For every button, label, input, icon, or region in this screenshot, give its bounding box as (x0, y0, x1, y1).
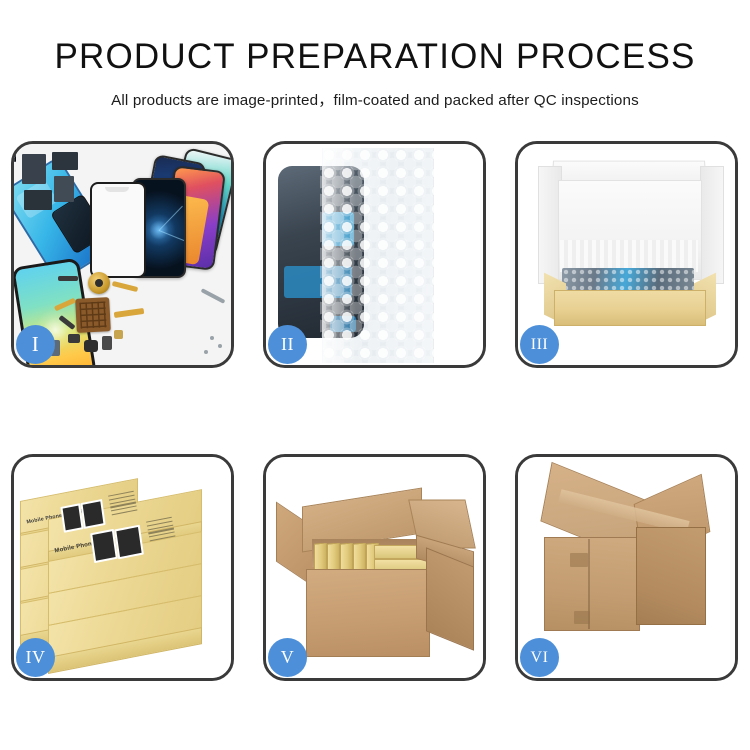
step-panel-6[interactable]: VI (515, 454, 738, 681)
screen-swirl-graphic (141, 212, 177, 248)
small-part (84, 340, 98, 352)
box-print-textlines (146, 517, 176, 544)
steps-grid: I II (11, 141, 739, 681)
chip-grid-part (75, 297, 111, 333)
box-right-flap (700, 166, 724, 284)
tool-part (201, 288, 226, 304)
step-badge-5: V (268, 638, 307, 677)
small-part (102, 336, 112, 350)
step-badge-2: II (268, 325, 307, 364)
carton-tab (574, 611, 590, 624)
step-panel-2[interactable]: II (263, 141, 486, 368)
header: PRODUCT PREPARATION PROCESS All products… (0, 0, 750, 110)
speaker-coil-part (88, 272, 110, 294)
phone-back-cover-shape (14, 144, 16, 162)
product-preparation-infographic: PRODUCT PREPARATION PROCESS All products… (0, 0, 750, 750)
carton-side-wall (426, 547, 474, 650)
step-panel-3[interactable]: III (515, 141, 738, 368)
box-front-wall (554, 290, 706, 326)
carton-front-face (544, 537, 640, 631)
carton-side-face (636, 527, 706, 625)
page-subtitle: All products are image-printed，film-coat… (0, 74, 750, 110)
flex-cable-part (112, 281, 138, 292)
gloss-highlight (322, 146, 356, 365)
step-badge-4: IV (16, 638, 55, 677)
step-badge-6: VI (520, 638, 559, 677)
step-badge-3: III (520, 325, 559, 364)
box-print-screen (80, 499, 105, 529)
small-part (68, 334, 80, 343)
box-print-screen (114, 525, 144, 560)
box-print-screen (90, 529, 118, 563)
page-title: PRODUCT PREPARATION PROCESS (0, 0, 750, 74)
flex-cable-part (114, 308, 145, 318)
step-panel-1[interactable]: I (11, 141, 234, 368)
retail-box (48, 625, 200, 677)
small-part (114, 330, 123, 339)
step-panel-5[interactable]: V (263, 454, 486, 681)
step-badge-1: I (16, 325, 55, 364)
box-print-textlines (108, 491, 138, 518)
screw-part (210, 336, 214, 340)
screw-part (204, 350, 208, 354)
carton-front-wall (306, 569, 430, 657)
step-panel-4[interactable]: Mobile Phone Spare Parts Mobile Phone Sp… (11, 454, 234, 681)
screw-part (218, 344, 222, 348)
white-bezel-glass-shape (90, 182, 146, 278)
small-part (58, 276, 78, 281)
carton-tab (570, 553, 588, 567)
